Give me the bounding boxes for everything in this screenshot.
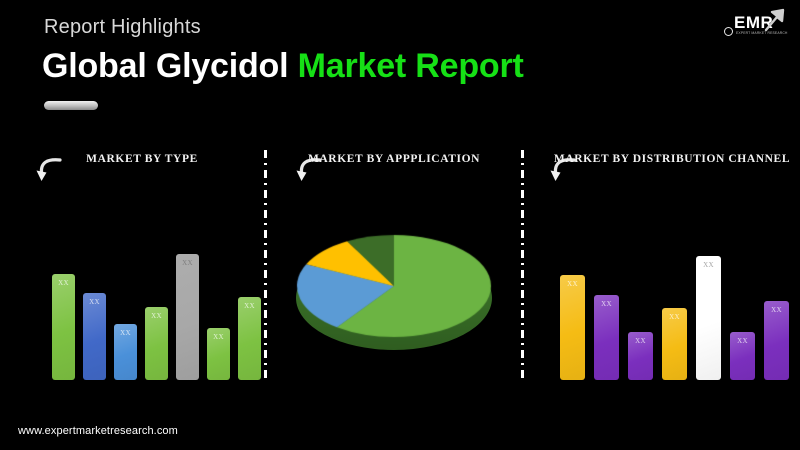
bar-chart-market-by-distribution-channel: XXXXXXXXXXXXXX — [530, 245, 792, 380]
bar-value-label: XX — [594, 300, 619, 308]
panel-title-application: MARKET BY APPPLICATION — [272, 151, 516, 168]
section-divider-1 — [264, 150, 267, 382]
section-divider-2 — [521, 150, 524, 382]
bar-value-label: XX — [238, 302, 261, 310]
bar-value-label: XX — [52, 279, 75, 287]
panel-market-by-type: MARKET BY TYPE XXXXXXXXXXXXXX — [8, 140, 258, 395]
bar-value-label: XX — [730, 337, 755, 345]
logo-circle-icon — [724, 27, 733, 36]
page-title: Global Glycidol Market Report — [42, 47, 524, 86]
bar-value-label: XX — [176, 259, 199, 267]
bar-value-label: XX — [114, 329, 137, 337]
panel-title-distribution: MARKET BY DISTRIBUTION CHANNEL — [530, 151, 792, 168]
bar-value-label: XX — [696, 261, 721, 269]
pie-chart-market-by-application — [284, 208, 504, 358]
bar: XX — [764, 301, 789, 380]
bar-chart-market-by-type: XXXXXXXXXXXXXX — [8, 245, 258, 380]
pie-top-face — [296, 234, 492, 338]
bar-value-label: XX — [145, 312, 168, 320]
growth-arrow-icon — [764, 8, 786, 37]
bar: XX — [560, 275, 585, 380]
page-title-accent: Market Report — [298, 47, 524, 85]
bar: XX — [696, 256, 721, 380]
panel-title-type: MARKET BY TYPE — [8, 151, 258, 168]
slide-canvas: Report Highlights Global Glycidol Market… — [0, 0, 800, 450]
panel-market-by-distribution-channel: MARKET BY DISTRIBUTION CHANNEL XXXXXXXXX… — [530, 140, 792, 395]
bar: XX — [628, 332, 653, 380]
bar-value-label: XX — [764, 306, 789, 314]
footer-website-url: www.expertmarketresearch.com — [18, 425, 178, 437]
bar-value-label: XX — [628, 337, 653, 345]
bar: XX — [83, 293, 106, 380]
emr-logo: EMR EXPERT MARKET RESEARCH — [720, 8, 792, 42]
bar: XX — [662, 308, 687, 380]
bar: XX — [594, 295, 619, 380]
bar: XX — [114, 324, 137, 380]
bar: XX — [52, 274, 75, 380]
bar: XX — [238, 297, 261, 380]
bar-value-label: XX — [662, 313, 687, 321]
bar-value-label: XX — [207, 333, 230, 341]
bar-value-label: XX — [560, 280, 585, 288]
panel-market-by-application: MARKET BY APPPLICATION — [272, 140, 516, 395]
bar: XX — [207, 328, 230, 380]
bar: XX — [730, 332, 755, 380]
report-kicker: Report Highlights — [44, 16, 201, 39]
bar: XX — [176, 254, 199, 380]
bar-value-label: XX — [83, 298, 106, 306]
page-title-main: Global Glycidol — [42, 47, 298, 85]
bar: XX — [145, 307, 168, 380]
title-underline-pill — [44, 101, 98, 110]
